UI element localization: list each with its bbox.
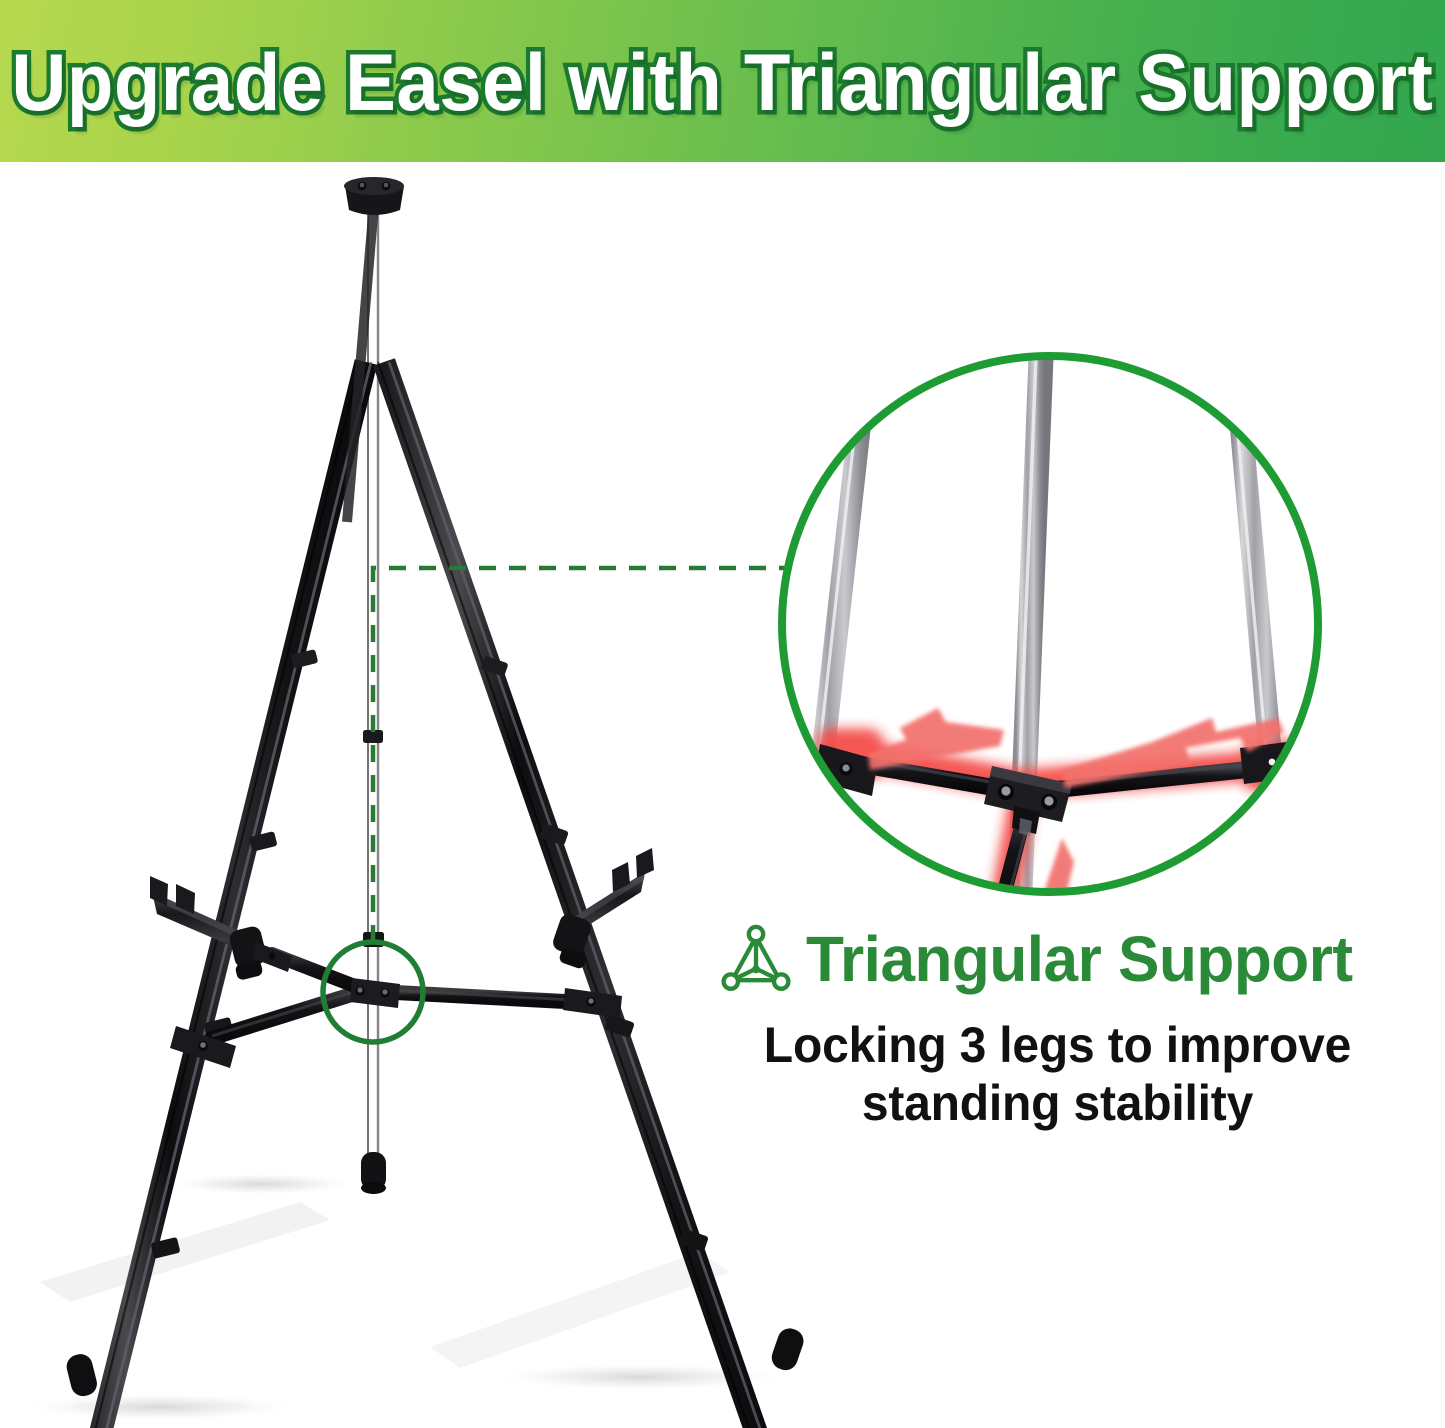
feature-text-block: Triangular Support Locking 3 legs to imp… [706, 924, 1432, 1132]
banner-title: Upgrade Easel with Triangular Support [12, 43, 1434, 124]
product-illustration-stage: Triangular Support Locking 3 legs to imp… [0, 162, 1445, 1428]
feature-subtitle: Locking 3 legs to improve standing stabi… [721, 1016, 1418, 1132]
product-feature-image: Upgrade Easel with Triangular Support [0, 0, 1445, 1428]
feature-subtitle-line-2: standing stability [721, 1074, 1395, 1132]
header-banner: Upgrade Easel with Triangular Support [0, 0, 1445, 162]
feature-heading: Triangular Support [806, 927, 1353, 992]
feature-heading-row: Triangular Support [706, 924, 1432, 996]
triangular-support-icon [720, 924, 792, 996]
feature-subtitle-line-1: Locking 3 legs to improve [721, 1016, 1395, 1074]
magnified-callout [0, 162, 1445, 1428]
